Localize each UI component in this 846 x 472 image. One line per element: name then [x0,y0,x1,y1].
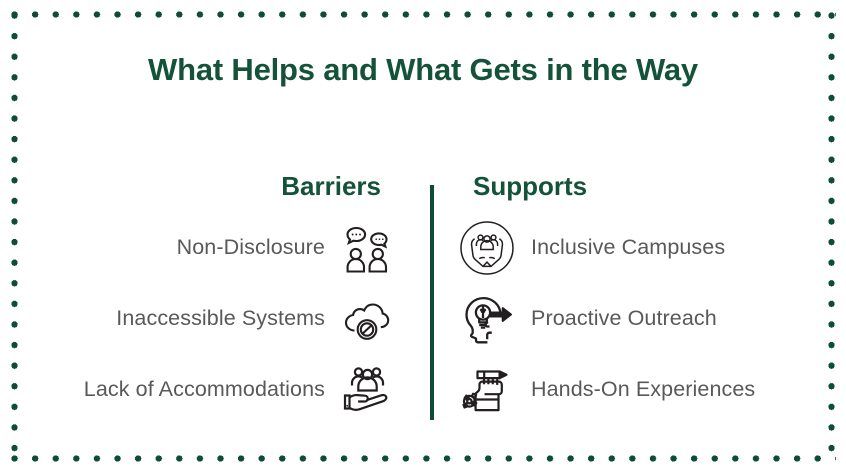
barrier-label-inaccessible-systems: Inaccessible Systems [116,306,325,331]
page-title: What Helps and What Gets in the Way [0,52,846,88]
barriers-list: Non-Disclosure [0,212,423,425]
hand-pencil-gear-icon [459,362,515,418]
barrier-label-non-disclosure: Non-Disclosure [177,235,325,260]
dotted-border-bottom [10,455,836,462]
dotted-border-top [10,11,836,18]
list-item: Lack of Accommodations [0,354,423,425]
list-item: Inclusive Campuses [423,212,846,283]
list-item: Hands-On Experiences [423,354,846,425]
column-heading-barriers: Barriers [0,160,423,212]
speech-bubbles-two-people-icon [339,220,395,276]
circle-hands-holding-people-icon [459,220,515,276]
list-item: Non-Disclosure [0,212,423,283]
column-supports: Supports [423,160,846,445]
support-label-inclusive-campuses: Inclusive Campuses [531,235,725,260]
list-item: Proactive Outreach [423,283,846,354]
two-column-comparison: Barriers Non-Disclosure [0,160,846,445]
cloud-prohibited-icon [339,291,395,347]
list-item: Inaccessible Systems [0,283,423,354]
column-barriers: Barriers Non-Disclosure [0,160,423,445]
supports-list: Inclusive Campuses [423,212,846,425]
support-label-hands-on-experiences: Hands-On Experiences [531,377,755,402]
support-label-proactive-outreach: Proactive Outreach [531,306,717,331]
head-lightbulb-arrow-icon [459,291,515,347]
infographic-poster: What Helps and What Gets in the Way Barr… [0,0,846,472]
barrier-label-lack-of-accommodations: Lack of Accommodations [84,377,325,402]
hand-holding-group-icon [339,362,395,418]
column-heading-supports: Supports [423,160,846,212]
